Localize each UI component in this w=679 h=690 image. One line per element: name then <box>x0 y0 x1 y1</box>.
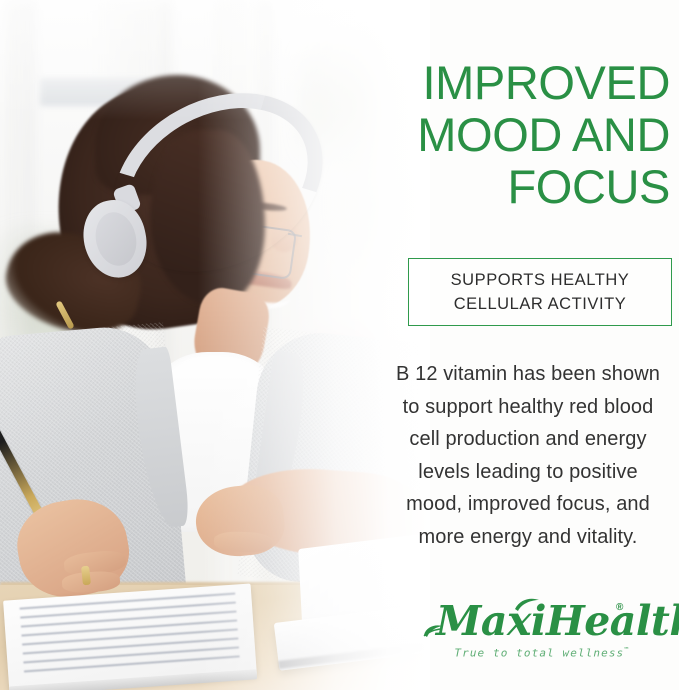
tagline-text: True to total wellness <box>454 647 624 660</box>
brand-tagline: True to total wellness™ <box>442 646 642 660</box>
body-line-4: levels leading to positive <box>382 456 674 489</box>
badge-line-1: SUPPORTS HEALTHY <box>451 268 630 292</box>
body-paragraph: B 12 vitamin has been shown to support h… <box>382 358 674 553</box>
leaf-accent-icon <box>514 597 540 618</box>
brand-logo: MaxiHealth ® True to total wellness™ <box>428 598 668 670</box>
headline-line-1: IMPROVED <box>350 57 670 109</box>
headline-line-3: FOCUS <box>350 161 670 213</box>
badge-line-2: CELLULAR ACTIVITY <box>451 292 630 316</box>
page-title: IMPROVED MOOD AND FOCUS <box>350 57 670 213</box>
body-line-3: cell production and energy <box>382 423 674 456</box>
trademark-mark: ™ <box>624 646 629 654</box>
body-line-5: mood, improved focus, and <box>382 488 674 521</box>
marketing-copy-panel: IMPROVED MOOD AND FOCUS SUPPORTS HEALTHY… <box>338 0 679 690</box>
brand-name: MaxiHealth <box>436 598 679 644</box>
badge-text: SUPPORTS HEALTHY CELLULAR ACTIVITY <box>451 268 630 316</box>
product-marketing-image: IMPROVED MOOD AND FOCUS SUPPORTS HEALTHY… <box>0 0 679 690</box>
finger <box>214 531 273 553</box>
notebook <box>3 583 257 690</box>
registered-trademark: ® <box>616 602 623 613</box>
body-line-1: B 12 vitamin has been shown <box>382 358 674 391</box>
body-line-6: more energy and vitality. <box>382 521 674 554</box>
body-line-2: to support healthy red blood <box>382 391 674 424</box>
headline-line-2: MOOD AND <box>350 109 670 161</box>
notebook-handwriting <box>20 593 240 674</box>
status-badge: SUPPORTS HEALTHY CELLULAR ACTIVITY <box>408 258 672 326</box>
